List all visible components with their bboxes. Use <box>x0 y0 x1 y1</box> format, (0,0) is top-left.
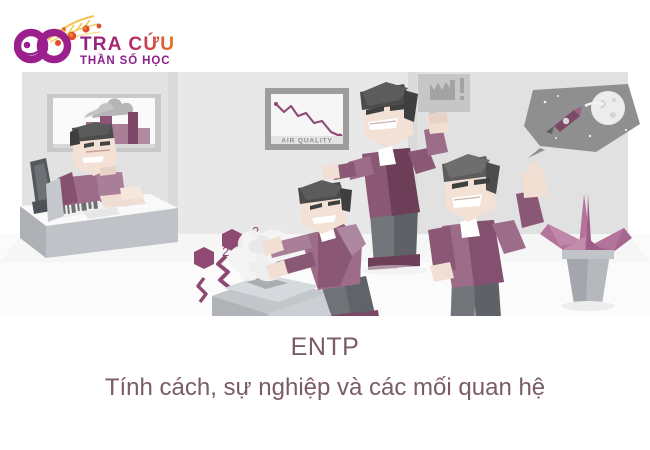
caption-block: ENTP Tính cách, sự nghiệp và các mối qua… <box>0 330 650 408</box>
site-logo[interactable]: TRA CỨU THẦN SỐ HỌC <box>14 12 214 70</box>
hero-illustration: AIR QUALITY <box>0 66 650 316</box>
logo-svg: TRA CỨU THẦN SỐ HỌC <box>14 12 214 70</box>
page-title: ENTP <box>0 330 650 364</box>
page-subtitle: Tính cách, sự nghiệp và các mối quan hệ <box>0 368 650 408</box>
illustration-svg: AIR QUALITY <box>0 66 650 316</box>
brand-subtitle: THẦN SỐ HỌC <box>80 53 170 67</box>
chart-label: AIR QUALITY <box>281 138 332 145</box>
brand-title: TRA CỨU <box>80 33 175 55</box>
air-quality-chart: AIR QUALITY <box>265 88 349 150</box>
infinity-icon <box>18 33 68 60</box>
